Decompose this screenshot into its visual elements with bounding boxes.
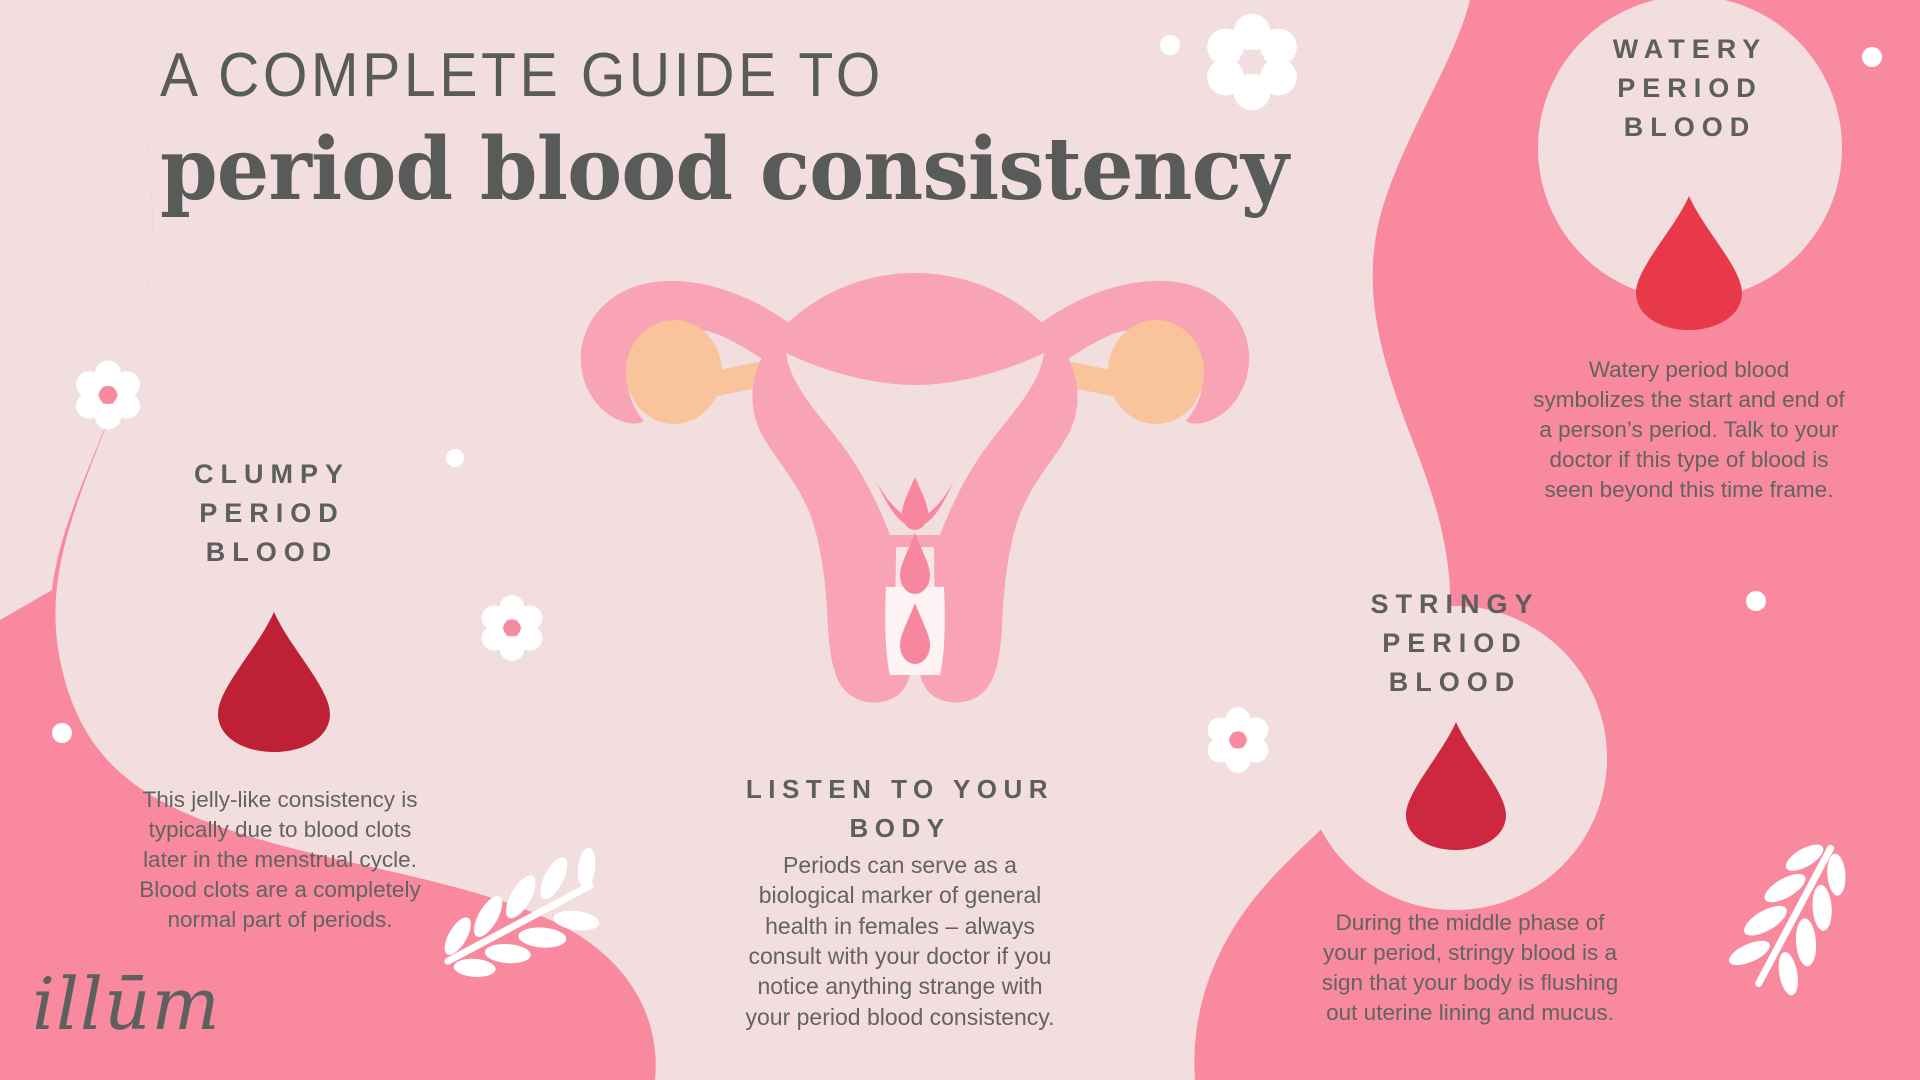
infographic-canvas: A COMPLETE GUIDE TO period blood consist… (0, 0, 1920, 1080)
clumpy-body: This jelly-like consistency is typically… (60, 785, 500, 935)
ovary-left (626, 320, 722, 424)
listen-body: Periods can serve as a biological marker… (690, 850, 1110, 1032)
dot-decor-2 (1862, 47, 1882, 67)
dot-decor-4 (52, 723, 72, 743)
clumpy-heading: CLUMPY PERIOD BLOOD (122, 455, 422, 572)
dot-decor-5 (1746, 591, 1766, 611)
dot-decor-3 (446, 449, 464, 467)
watery-drop-icon (1630, 192, 1748, 334)
uterus-diagram (570, 255, 1260, 715)
watery-heading: WATERY PERIOD BLOOD (1540, 30, 1840, 147)
brand-logo[interactable]: illūm (32, 962, 221, 1046)
ovary-right (1108, 320, 1204, 424)
title-kicker: A COMPLETE GUIDE TO (160, 40, 1135, 111)
page-title: A COMPLETE GUIDE TO period blood consist… (160, 40, 1220, 220)
title-main: period blood consistency (160, 119, 1178, 220)
clumpy-drop-icon (212, 608, 336, 756)
stringy-drop-icon (1400, 718, 1512, 854)
stringy-body: During the middle phase of your period, … (1250, 908, 1690, 1028)
watery-body: Watery period blood symbolizes the start… (1470, 355, 1908, 505)
listen-heading: LISTEN TO YOUR BODY (690, 770, 1110, 848)
stringy-heading: STRINGY PERIOD BLOOD (1305, 585, 1605, 702)
